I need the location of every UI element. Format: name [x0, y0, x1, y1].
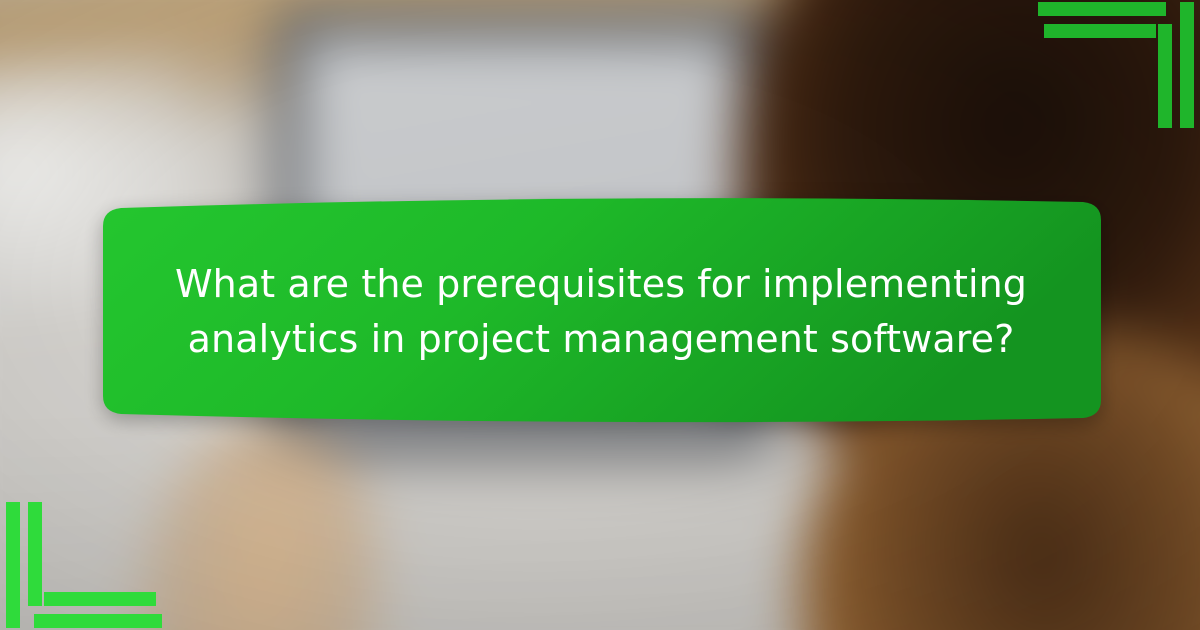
question-banner	[97, 196, 1105, 428]
corner-ornament-bottom-left	[0, 500, 170, 630]
question-card: What are the prerequisites for implement…	[0, 0, 1200, 630]
question-banner-shape	[97, 196, 1105, 428]
corner-ornament-top-right	[1030, 0, 1200, 130]
